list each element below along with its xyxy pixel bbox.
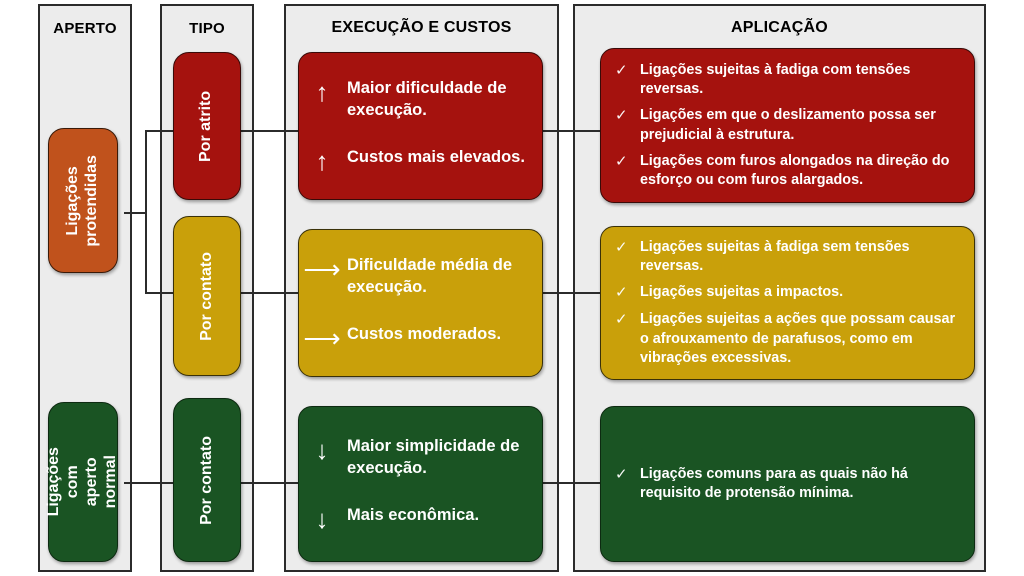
aplicacao-card-2-bullet-2: ✓ Ligações sujeitas a impactos. [615, 283, 956, 303]
aplicacao-card-2-text-1: Ligações sujeitas à fadiga sem tensões r… [640, 238, 956, 277]
aplicacao-card-1-text-3: Ligações com furos alongados na direção … [640, 152, 956, 191]
aplicacao-card-1-text-2: Ligações em que o deslizamento possa ser… [640, 106, 956, 145]
execucao-card-3[interactable]: ↓ Maior simplicidade de execução. ↓ Mais… [298, 406, 543, 562]
execucao-card-1-text-2: Custos mais elevados. [347, 147, 525, 169]
check-icon: ✓ [615, 310, 629, 330]
arrow-down-icon: ↓ [311, 505, 333, 532]
execucao-card-2-row-1: ⟶ Dificuldade média de execução. [311, 255, 528, 299]
arrow-right-icon: ⟶ [311, 324, 333, 351]
aplicacao-card-1-bullet-3: ✓ Ligações com furos alongados na direçã… [615, 152, 956, 191]
execucao-card-1-row-1: ↑ Maior dificuldade de execução. [311, 78, 528, 122]
tipo-card-por-contato-2[interactable]: Por contato [173, 398, 241, 562]
aplicacao-card-2-text-3: Ligações sujeitas a ações que possam cau… [640, 310, 956, 368]
execucao-card-1-row-2: ↑ Custos mais elevados. [311, 147, 528, 174]
column-title-execucao: EXECUÇÃO E CUSTOS [286, 6, 557, 50]
check-icon: ✓ [615, 465, 629, 485]
aplicacao-card-1-bullet-2: ✓ Ligações em que o deslizamento possa s… [615, 106, 956, 145]
execucao-card-2-text-1: Dificuldade média de execução. [347, 255, 528, 299]
aplicacao-card-1-bullet-1: ✓ Ligações sujeitas à fadiga com tensões… [615, 61, 956, 100]
check-icon: ✓ [615, 283, 629, 303]
check-icon: ✓ [615, 238, 629, 258]
arrow-up-icon: ↑ [311, 147, 333, 174]
aplicacao-card-1-text-1: Ligações sujeitas à fadiga com tensões r… [640, 61, 956, 100]
execucao-card-2-text-2: Custos moderados. [347, 324, 501, 346]
execucao-card-2-row-2: ⟶ Custos moderados. [311, 324, 528, 351]
aplicacao-card-3[interactable]: ✓ Ligações comuns para as quais não há r… [600, 406, 975, 562]
aperto-card-protendidas-label: Ligações protendidas [64, 155, 102, 247]
aplicacao-card-3-text-1: Ligações comuns para as quais não há req… [640, 465, 956, 504]
aperto-card-aperto-normal[interactable]: Ligações com aperto normal [48, 402, 118, 562]
check-icon: ✓ [615, 152, 629, 172]
tipo-card-por-contato-1[interactable]: Por contato [173, 216, 241, 376]
tipo-card-por-contato-1-label: Por contato [198, 252, 217, 341]
column-title-tipo: TIPO [162, 6, 252, 50]
check-icon: ✓ [615, 106, 629, 126]
arrow-right-icon: ⟶ [311, 255, 333, 282]
aplicacao-card-3-bullet-1: ✓ Ligações comuns para as quais não há r… [615, 465, 956, 504]
aplicacao-card-1[interactable]: ✓ Ligações sujeitas à fadiga com tensões… [600, 48, 975, 203]
aperto-card-protendidas[interactable]: Ligações protendidas [48, 128, 118, 273]
execucao-card-3-text-1: Maior simplicidade de execução. [347, 436, 528, 480]
tipo-card-por-atrito-label: Por atrito [198, 90, 217, 161]
check-icon: ✓ [615, 61, 629, 81]
column-title-aperto: APERTO [40, 6, 130, 50]
tipo-card-por-contato-2-label: Por contato [198, 436, 217, 525]
aperto-card-aperto-normal-label: Ligações com aperto normal [45, 447, 121, 516]
aplicacao-card-2-text-2: Ligações sujeitas a impactos. [640, 283, 843, 302]
tipo-card-por-atrito[interactable]: Por atrito [173, 52, 241, 200]
aplicacao-card-2[interactable]: ✓ Ligações sujeitas à fadiga sem tensões… [600, 226, 975, 380]
arrow-up-icon: ↑ [311, 78, 333, 105]
aplicacao-card-2-bullet-3: ✓ Ligações sujeitas a ações que possam c… [615, 310, 956, 368]
comparison-diagram: APERTO TIPO EXECUÇÃO E CUSTOS APLICAÇÃO … [0, 0, 1024, 576]
connector-bracket-vertical [145, 130, 147, 294]
execucao-card-1-text-1: Maior dificuldade de execução. [347, 78, 528, 122]
execucao-card-3-row-1: ↓ Maior simplicidade de execução. [311, 436, 528, 480]
execucao-card-2[interactable]: ⟶ Dificuldade média de execução. ⟶ Custo… [298, 229, 543, 377]
execucao-card-1[interactable]: ↑ Maior dificuldade de execução. ↑ Custo… [298, 52, 543, 200]
column-title-aplicacao: APLICAÇÃO [575, 6, 984, 50]
execucao-card-3-text-2: Mais econômica. [347, 505, 479, 527]
connector-aperto-protendidas [124, 212, 146, 214]
execucao-card-3-row-2: ↓ Mais econômica. [311, 505, 528, 532]
arrow-down-icon: ↓ [311, 436, 333, 463]
aplicacao-card-2-bullet-1: ✓ Ligações sujeitas à fadiga sem tensões… [615, 238, 956, 277]
